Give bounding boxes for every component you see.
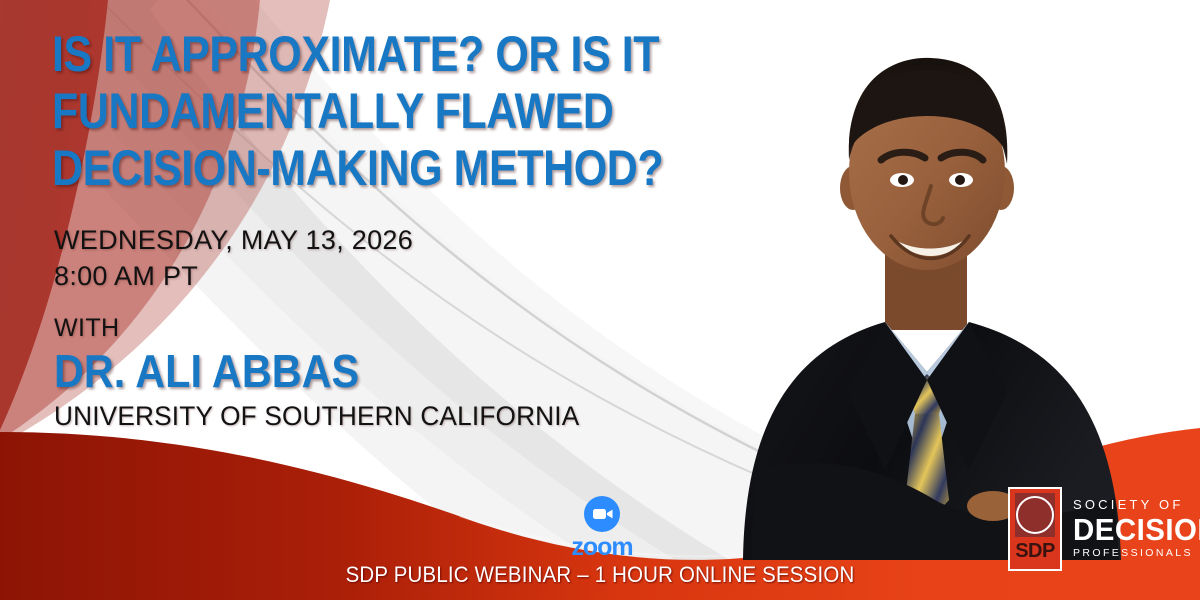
with-label: WITH <box>54 312 596 344</box>
sdp-wordmark: SOCIETY OF DECISION PROFESSIONALS <box>1073 497 1200 561</box>
webinar-poster: IS IT APPROXIMATE? OR IS IT FUNDAMENTALL… <box>0 0 1200 600</box>
speaker-affiliation: UNIVERSITY OF SOUTHERN CALIFORNIA <box>54 398 579 434</box>
sdp-line-decision: DECISION <box>1073 513 1200 546</box>
zoom-camera-icon <box>584 496 620 532</box>
sdp-logo-mark: SDP <box>1008 487 1062 571</box>
video-camera-icon <box>584 496 620 532</box>
headline-line-2: FUNDAMENTALLY FLAWED <box>52 83 654 140</box>
sdp-square <box>1015 493 1055 537</box>
speaker-portrait <box>735 0 1135 560</box>
zoom-logo: zoom <box>566 496 638 560</box>
headline-line-3: DECISION-MAKING METHOD? <box>52 140 654 197</box>
zoom-wordmark: zoom <box>566 534 638 560</box>
sdp-abbreviation: SDP <box>1015 540 1055 562</box>
banner-caption: SDP PUBLIC WEBINAR – 1 HOUR ONLINE SESSI… <box>42 562 1158 588</box>
speaker-name: DR. ALI ABBAS <box>54 344 542 398</box>
sdp-line-professionals: PROFESSIONALS <box>1073 546 1200 561</box>
event-time: 8:00 AM PT <box>54 258 413 294</box>
headline: IS IT APPROXIMATE? OR IS IT FUNDAMENTALL… <box>52 26 752 197</box>
sdp-logo: SDP SOCIETY OF DECISION PROFESSIONALS <box>1008 487 1200 571</box>
sdp-ring-icon <box>1016 496 1054 534</box>
speaker-block: WITH DR. ALI ABBAS UNIVERSITY OF SOUTHER… <box>54 312 596 434</box>
sdp-line-society-of: SOCIETY OF <box>1073 497 1200 513</box>
event-date: WEDNESDAY, MAY 13, 2026 <box>54 222 413 258</box>
headline-line-1: IS IT APPROXIMATE? OR IS IT <box>52 26 654 83</box>
event-datetime: WEDNESDAY, MAY 13, 2026 8:00 AM PT <box>54 222 413 294</box>
